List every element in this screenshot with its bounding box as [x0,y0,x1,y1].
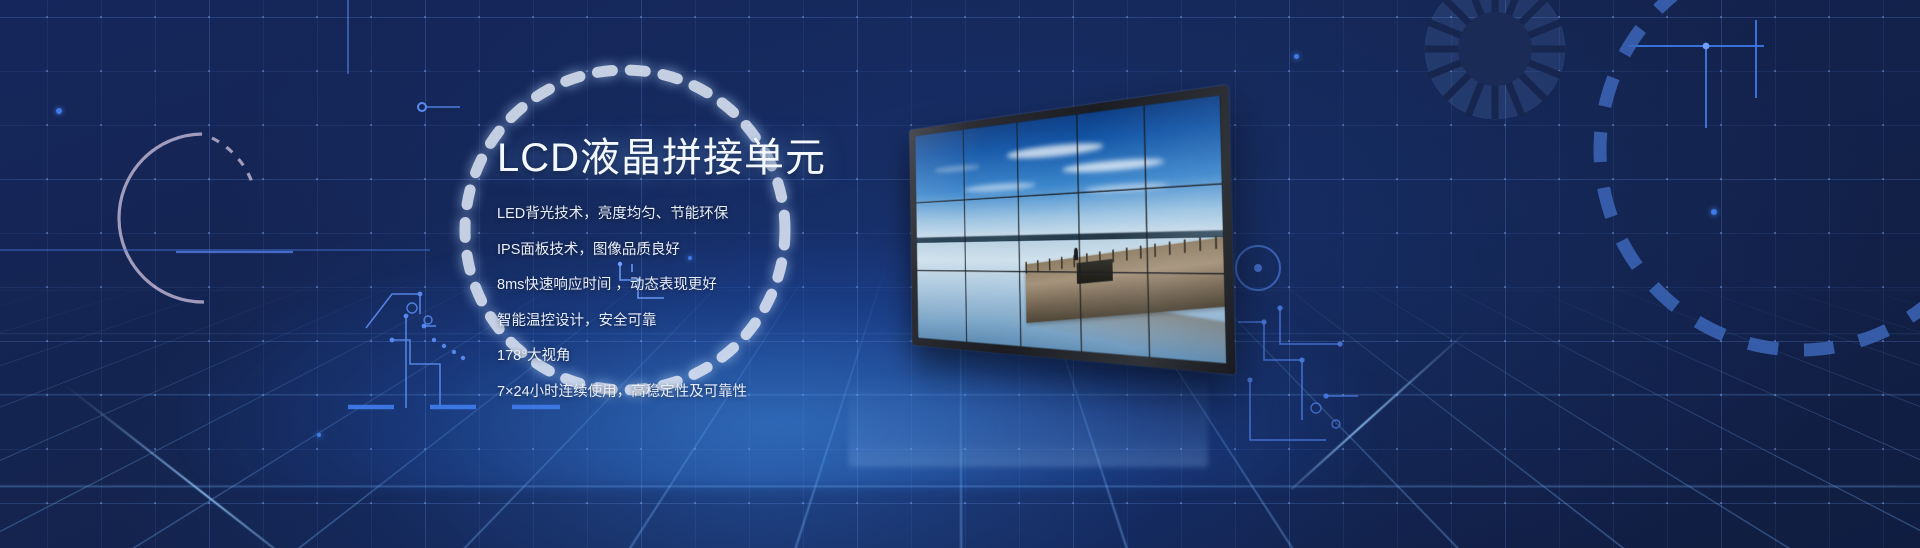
glow-node [1294,54,1299,59]
glow-node [56,108,62,114]
glow-node [1711,209,1717,215]
video-wall-product [812,84,1232,374]
display-screen [915,95,1227,364]
glass-reflection [915,95,1227,364]
product-banner: LCD液晶拼接单元 LED背光技术，亮度均匀、节能环保 IPS面板技术，图像品质… [0,0,1920,548]
display-bezel [909,85,1235,375]
video-wall-floor-reflection [848,372,1208,467]
glow-node [317,433,321,437]
